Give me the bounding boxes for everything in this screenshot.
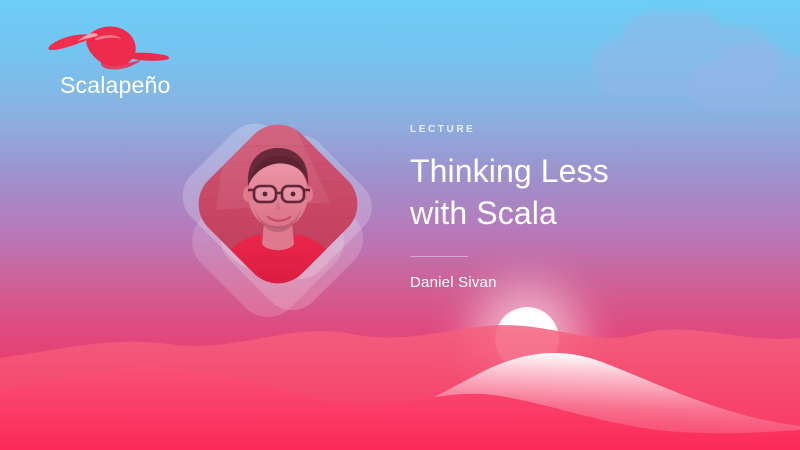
lecture-kicker: LECTURE <box>410 124 730 135</box>
cloud-icon <box>690 64 800 110</box>
speaker-name: Daniel Sivan <box>410 274 730 291</box>
lecture-title-card: Scalapeño <box>0 0 800 450</box>
chili-pepper-flame-icon <box>38 24 173 72</box>
lecture-text-block: LECTURE Thinking Less with Scala Daniel … <box>410 124 730 291</box>
brand-name: Scalapeño <box>60 74 228 97</box>
title-divider <box>410 256 468 257</box>
lecture-title-line-1: Thinking Less <box>410 153 609 189</box>
avatar <box>189 118 365 298</box>
lecture-title-line-2: with Scala <box>410 195 557 231</box>
brand-logo[interactable]: Scalapeño <box>38 24 228 97</box>
hills-illustration <box>0 300 800 450</box>
lecture-title: Thinking Less with Scala <box>410 151 730 234</box>
